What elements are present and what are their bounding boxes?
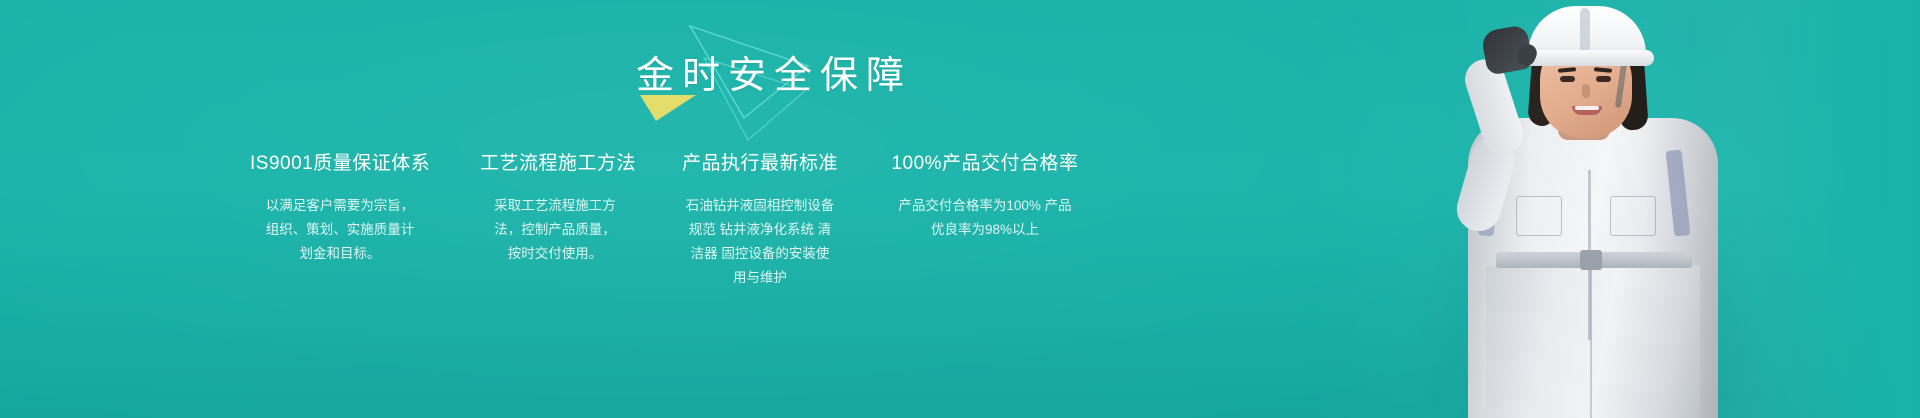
feature-body: 以满足客户需要为宗旨，组织、策划、实施质量计划金和目标。 xyxy=(265,194,415,266)
feature-column-process-method: 工艺流程施工方法 采取工艺流程施工方法，控制产品质量，按时交付使用。 xyxy=(480,150,630,266)
feature-body: 石油钻井液固相控制设备规范 钻井液净化系统 清洁器 固控设备的安装使用与维护 xyxy=(685,194,835,290)
feature-body: 产品交付合格率为100% 产品优良率为98%以上 xyxy=(895,194,1075,242)
worker-chest-pocket-right xyxy=(1610,196,1656,236)
worker-chest-pocket-left xyxy=(1516,196,1562,236)
banner-right-edge-fade xyxy=(1750,0,1920,418)
worker-eye-left xyxy=(1560,76,1575,82)
feature-body: 采取工艺流程施工方法，控制产品质量，按时交付使用。 xyxy=(489,194,621,266)
safety-guarantee-banner: 金时安全保障 IS9001质量保证体系 以满足客户需要为宗旨，组织、策划、实施质… xyxy=(0,0,1920,418)
feature-column-delivery-pass-rate: 100%产品交付合格率 产品交付合格率为100% 产品优良率为98%以上 xyxy=(890,150,1080,242)
worker-teeth xyxy=(1575,106,1599,110)
worker-trousers xyxy=(1486,266,1700,418)
hard-hat-ridge xyxy=(1580,8,1590,54)
page-title: 金时安全保障 xyxy=(0,52,1540,100)
worker-photo xyxy=(1430,0,1760,418)
feature-title: IS9001质量保证体系 xyxy=(250,150,430,178)
feature-column-latest-standard: 产品执行最新标准 石油钻井液固相控制设备规范 钻井液净化系统 清洁器 固控设备的… xyxy=(680,150,840,290)
worker-nose xyxy=(1582,84,1590,98)
feature-title: 100%产品交付合格率 xyxy=(890,150,1080,178)
worker-eye-right xyxy=(1596,76,1611,82)
feature-title: 产品执行最新标准 xyxy=(680,150,840,178)
worker-belt-buckle xyxy=(1580,250,1602,270)
feature-title: 工艺流程施工方法 xyxy=(480,150,630,178)
feature-columns: IS9001质量保证体系 以满足客户需要为宗旨，组织、策划、实施质量计划金和目标… xyxy=(250,150,1080,290)
hard-hat-brim xyxy=(1520,50,1654,66)
feature-column-quality-system: IS9001质量保证体系 以满足客户需要为宗旨，组织、策划、实施质量计划金和目标… xyxy=(250,150,430,266)
